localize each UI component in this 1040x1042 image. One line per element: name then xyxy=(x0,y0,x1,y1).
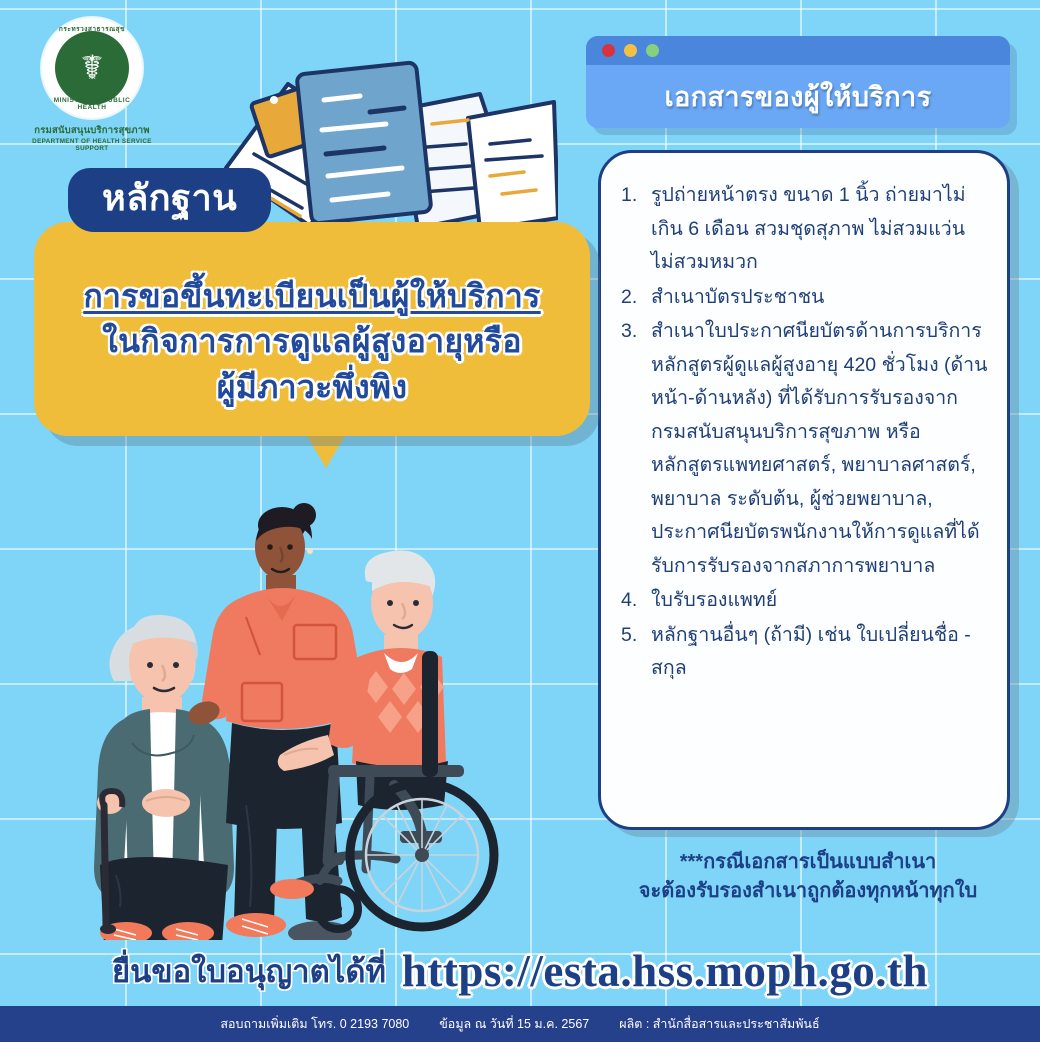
cta-url-row: ยื่นขอใบอนุญาตได้ที่ https://esta.hss.mo… xyxy=(0,940,1040,1002)
list-item: รูปถ่ายหน้าตรง ขนาด 1 นิ้ว ถ่ายมาไม่เกิน… xyxy=(621,179,993,280)
window-header-card: เอกสารของผู้ให้บริการ xyxy=(586,36,1010,128)
seal-text-bottom: MINISTRY OF PUBLIC HEALTH xyxy=(42,97,142,111)
list-item: สำเนาใบประกาศนียบัตรด้านการบริการ หลักสู… xyxy=(621,315,993,583)
window-close-dot-icon[interactable] xyxy=(602,44,615,57)
infographic-poster: กระทรวงสาธารณสุข ☤ MINISTRY OF PUBLIC HE… xyxy=(0,0,1040,1042)
window-minimize-dot-icon[interactable] xyxy=(624,44,637,57)
title-line-1: การขอขึ้นทะเบียนเป็นผู้ให้บริการ xyxy=(56,274,568,319)
documents-illustration xyxy=(218,58,558,248)
ministry-logo: กระทรวงสาธารณสุข ☤ MINISTRY OF PUBLIC HE… xyxy=(18,16,166,152)
note-line-2: จะต้องรับรองสำเนาถูกต้องทุกหน้าทุกใบ xyxy=(598,877,1018,906)
cta-lead-text: ยื่นขอใบอนุญาตได้ที่ xyxy=(112,946,386,996)
ministry-seal-icon: กระทรวงสาธารณสุข ☤ MINISTRY OF PUBLIC HE… xyxy=(40,16,144,120)
footer-data-date: ข้อมูล ณ วันที่ 15 ม.ค. 2567 xyxy=(439,1014,589,1034)
list-item: สำเนาบัตรประชาชน xyxy=(621,281,993,315)
window-title-bar xyxy=(586,36,1010,65)
copy-certification-note: ***กรณีเอกสารเป็นแบบสำเนา จะต้องรับรองสำ… xyxy=(598,848,1018,906)
documents-list-card: รูปถ่ายหน้าตรง ขนาด 1 นิ้ว ถ่ายมาไม่เกิน… xyxy=(598,150,1010,830)
title-line-3: ผู้มีภาวะพึ่งพิง xyxy=(56,365,568,410)
note-line-1: ***กรณีเอกสารเป็นแบบสำเนา xyxy=(598,848,1018,877)
title-line-2: ในกิจการการดูแลผู้สูงอายุหรือ xyxy=(56,319,568,364)
list-item: หลักฐานอื่นๆ (ถ้ามี) เช่น ใบเปลี่ยนชื่อ … xyxy=(621,619,993,686)
documents-list: รูปถ่ายหน้าตรง ขนาด 1 นิ้ว ถ่ายมาไม่เกิน… xyxy=(621,179,993,686)
footer-bar: สอบถามเพิ่มเติม โทร. 0 2193 7080 ข้อมูล … xyxy=(0,1006,1040,1042)
cta-url-link[interactable]: https://esta.hss.moph.go.th xyxy=(402,945,928,997)
title-badge: หลักฐาน xyxy=(68,168,271,232)
window-header-title: เอกสารของผู้ให้บริการ xyxy=(586,65,1010,128)
list-item: ใบรับรองแพทย์ xyxy=(621,584,993,618)
footer-producer: ผลิต : สำนักสื่อสารและประชาสัมพันธ์ xyxy=(619,1014,819,1034)
title-box: การขอขึ้นทะเบียนเป็นผู้ให้บริการ ในกิจกา… xyxy=(34,222,590,436)
seal-text-top: กระทรวงสาธารณสุข xyxy=(42,24,142,34)
window-maximize-dot-icon[interactable] xyxy=(646,44,659,57)
caduceus-icon: ☤ xyxy=(55,31,129,105)
footer-contact: สอบถามเพิ่มเติม โทร. 0 2193 7080 xyxy=(220,1014,409,1034)
logo-caption-en: DEPARTMENT OF HEALTH SERVICE SUPPORT xyxy=(18,138,166,152)
logo-caption-th: กรมสนับสนุนบริการสุขภาพ xyxy=(18,123,166,138)
people-illustration xyxy=(70,485,500,940)
